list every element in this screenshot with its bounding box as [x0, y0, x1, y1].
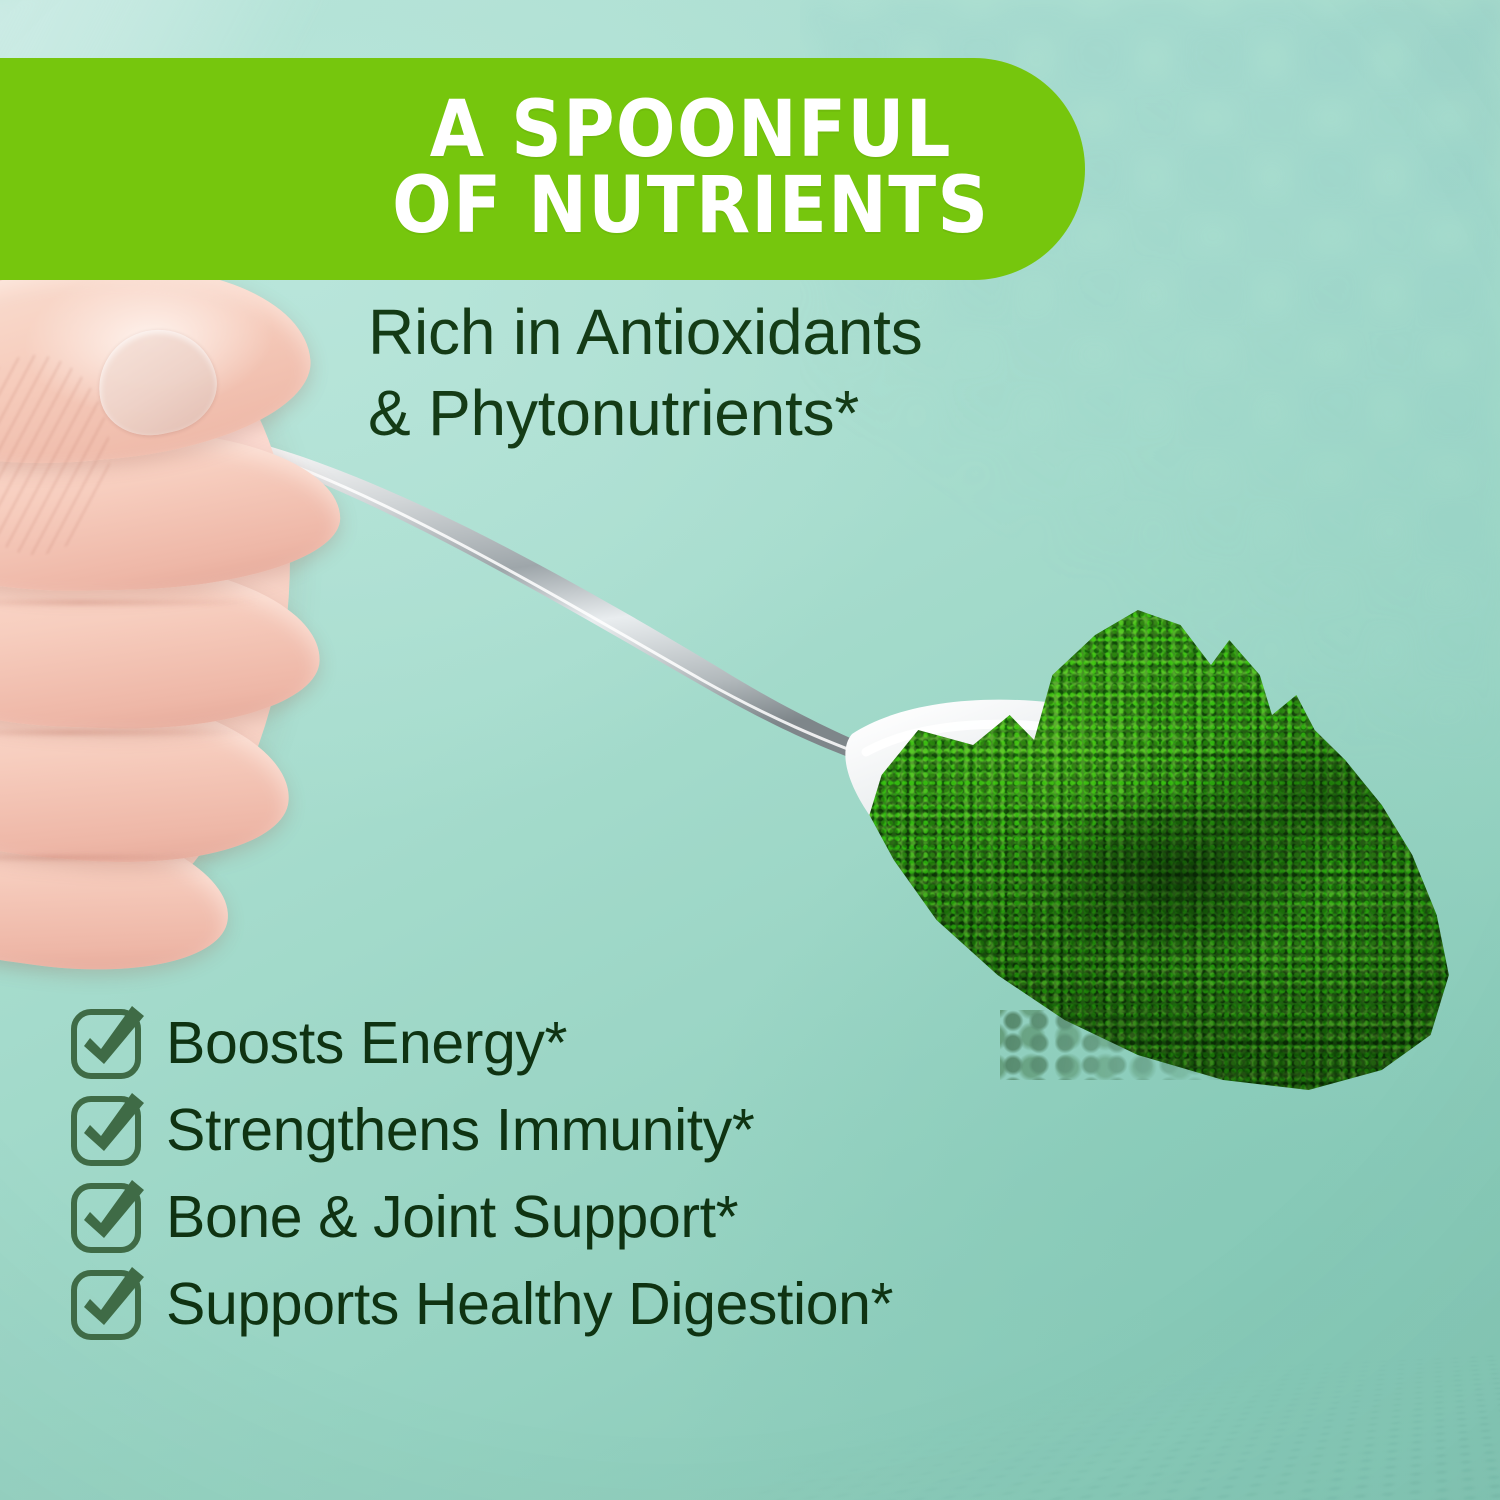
subtitle-text: Rich in Antioxidants & Phytonutrients*	[368, 292, 1128, 455]
checkbox-checked-icon	[70, 1269, 142, 1341]
checkbox-checked-icon	[70, 1182, 142, 1254]
product-infographic: A SPOONFUL OF NUTRIENTS Rich in Antioxid…	[0, 0, 1500, 1500]
benefit-row: Strengthens Immunity*	[70, 1087, 1200, 1174]
benefit-row: Bone & Joint Support*	[70, 1174, 1200, 1261]
checkbox-checked-icon	[70, 1095, 142, 1167]
benefit-label: Supports Healthy Digestion*	[166, 1275, 893, 1334]
knuckle-crease	[0, 730, 250, 735]
benefit-label: Boosts Energy*	[166, 1014, 567, 1073]
knuckle-crease	[0, 855, 220, 860]
benefit-row: Supports Healthy Digestion*	[70, 1261, 1200, 1348]
benefit-label: Bone & Joint Support*	[166, 1188, 738, 1247]
benefits-checklist: Boosts Energy* Strengthens Immunity* Bon…	[70, 1000, 1200, 1348]
benefit-row: Boosts Energy*	[70, 1000, 1200, 1087]
header-banner: A SPOONFUL OF NUTRIENTS	[0, 58, 1085, 280]
benefit-label: Strengthens Immunity*	[166, 1101, 754, 1160]
knuckle-crease	[0, 600, 260, 605]
checkbox-checked-icon	[70, 1008, 142, 1080]
banner-title: A SPOONFUL OF NUTRIENTS	[393, 93, 990, 244]
spoon-handle	[236, 440, 936, 780]
